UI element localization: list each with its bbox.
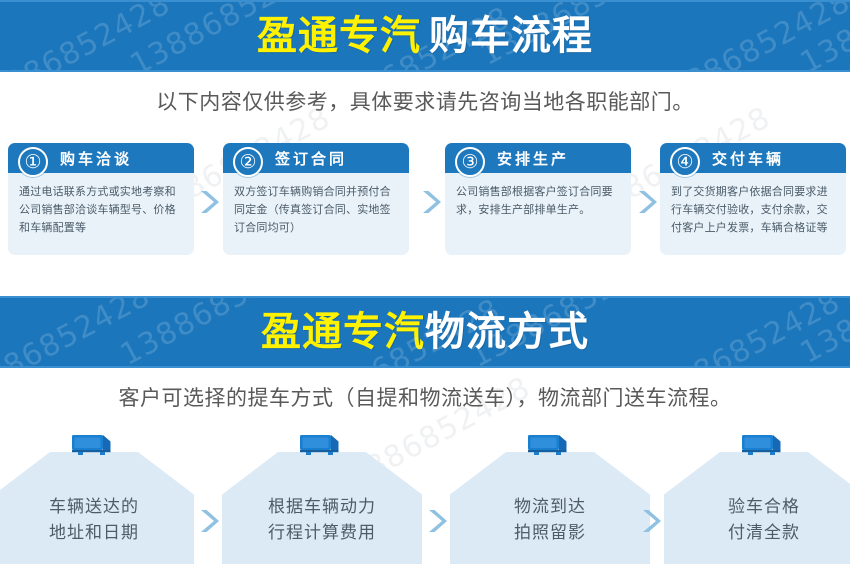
step-header: ③ 安排生产 (445, 143, 631, 173)
logistics-card-2[interactable]: 根据车辆动力 行程计算费用 (222, 452, 422, 564)
logistics-card-text: 验车合格 付清全款 (664, 494, 850, 547)
step-number: ④ (676, 151, 693, 173)
truck-icon (299, 433, 345, 457)
page-root: 13886852428 13886852428 13886852428 1388… (0, 0, 850, 564)
step-title: 签订合同 (275, 148, 347, 169)
step-body: 通过电话联系方式或实地考察和公司销售部洽谈车辆型号、价格和车辆配置等 (8, 173, 194, 255)
logistics-card-1[interactable]: 车辆送达的 地址和日期 (0, 452, 194, 564)
step-header: ① 购车洽谈 (8, 143, 194, 173)
logistics-line-2: 地址和日期 (0, 520, 194, 546)
logistics-line-1: 验车合格 (664, 494, 850, 520)
step-body: 到了交货期客户依据合同要求进行车辆交付验收，支付余款，交付客户上户发票，车辆合格… (660, 173, 846, 255)
logistics-arrow-3 (640, 508, 662, 534)
truck-icon (71, 433, 117, 457)
logistics-line-2: 行程计算费用 (222, 520, 422, 546)
banner-heading: 物流方式 (425, 309, 589, 355)
step-header: ② 签订合同 (223, 143, 409, 173)
logistics-line-2: 付清全款 (664, 520, 850, 546)
logistics-line-1: 物流到达 (450, 494, 650, 520)
step-card-4[interactable]: ④ 交付车辆 到了交货期客户依据合同要求进行车辆交付验收，支付余款，交付客户上户… (660, 143, 846, 255)
step-number-badge: ④ (670, 147, 700, 177)
step-arrow-1 (198, 189, 220, 215)
logistics-banner: 13886852428 13886852428 13886852428 1388… (0, 296, 850, 368)
logistics-line-1: 车辆送达的 (0, 494, 194, 520)
logistics-card-3[interactable]: 物流到达 拍照留影 (450, 452, 650, 564)
step-number-badge: ③ (455, 147, 485, 177)
logistics-card-text: 车辆送达的 地址和日期 (0, 494, 194, 547)
step-arrow-3 (636, 189, 658, 215)
logistics-subtitle: 客户可选择的提车方式（自提和物流送车），物流部门送车流程。 (0, 382, 850, 412)
step-header: ④ 交付车辆 (660, 143, 846, 173)
step-number: ③ (461, 151, 478, 173)
purchase-banner-title: 盈通专汽购车流程 (257, 16, 593, 56)
logistics-line-1: 根据车辆动力 (222, 494, 422, 520)
logistics-line-2: 拍照留影 (450, 520, 650, 546)
logistics-card-text: 根据车辆动力 行程计算费用 (222, 494, 422, 547)
step-title: 交付车辆 (712, 148, 784, 169)
step-number: ② (239, 151, 256, 173)
brand-name: 盈通专汽 (261, 309, 425, 355)
step-arrow-2 (420, 189, 442, 215)
step-title: 购车洽谈 (60, 148, 132, 169)
step-body: 双方签订车辆购销合同并预付合同定金（传真签订合同、实地签订合同均可） (223, 173, 409, 255)
step-card-3[interactable]: ③ 安排生产 公司销售部根据客户签订合同要求，安排生产部排单生产。 (445, 143, 631, 255)
truck-icon (741, 433, 787, 457)
logistics-arrow-2 (426, 508, 448, 534)
logistics-arrow-1 (198, 508, 220, 534)
step-title: 安排生产 (497, 148, 569, 169)
banner-heading: 购车流程 (429, 13, 593, 59)
step-card-2[interactable]: ② 签订合同 双方签订车辆购销合同并预付合同定金（传真签订合同、实地签订合同均可… (223, 143, 409, 255)
truck-icon (527, 433, 573, 457)
brand-name: 盈通专汽 (257, 13, 421, 59)
step-number: ① (24, 151, 41, 173)
purchase-steps: ① 购车洽谈 通过电话联系方式或实地考察和公司销售部洽谈车辆型号、价格和车辆配置… (0, 143, 850, 263)
step-body: 公司销售部根据客户签订合同要求，安排生产部排单生产。 (445, 173, 631, 255)
step-number-badge: ① (18, 147, 48, 177)
step-number-badge: ② (233, 147, 263, 177)
step-card-1[interactable]: ① 购车洽谈 通过电话联系方式或实地考察和公司销售部洽谈车辆型号、价格和车辆配置… (8, 143, 194, 255)
logistics-steps: 车辆送达的 地址和日期 根据车辆动力 行程计算费用 (0, 430, 850, 564)
purchase-banner: 13886852428 13886852428 13886852428 1388… (0, 0, 850, 72)
logistics-card-text: 物流到达 拍照留影 (450, 494, 650, 547)
purchase-subtitle: 以下内容仅供参考，具体要求请先咨询当地各职能部门。 (0, 86, 850, 116)
logistics-card-4[interactable]: 验车合格 付清全款 (664, 452, 850, 564)
logistics-banner-title: 盈通专汽物流方式 (261, 312, 589, 352)
